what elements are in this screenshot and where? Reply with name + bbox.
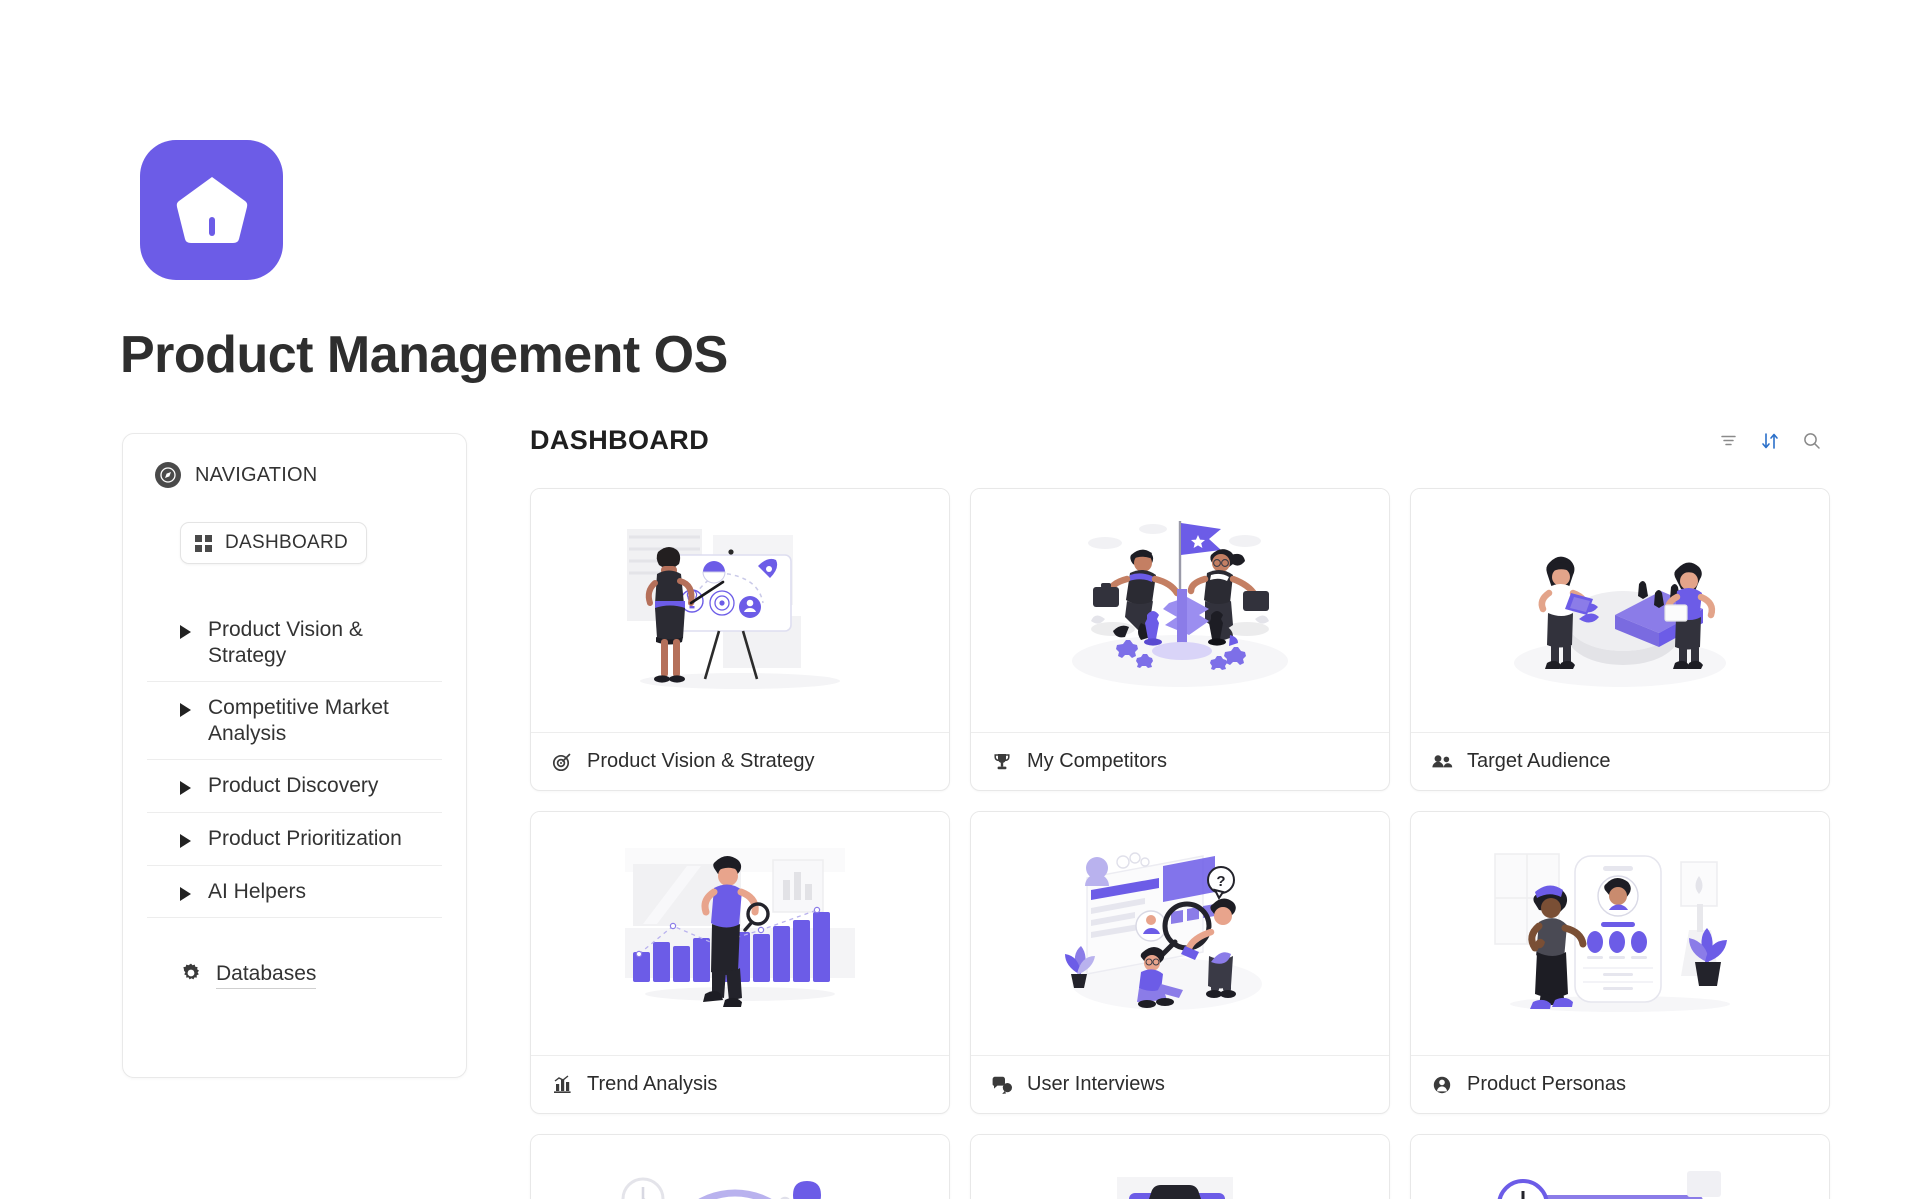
triangle-right-icon <box>180 887 191 901</box>
house-pentagon-logo-icon <box>169 167 255 253</box>
sidebar-item-label: Product Discovery <box>208 773 378 799</box>
search-icon[interactable] <box>1802 431 1822 451</box>
speech-bubbles-icon <box>991 1074 1013 1096</box>
sidebar: NAVIGATION DASHBOARD Product Vision & St… <box>122 433 467 1078</box>
svg-text:?: ? <box>1216 873 1225 890</box>
toolbar <box>1719 431 1822 451</box>
page-title: Product Management OS <box>120 325 728 385</box>
gear-icon <box>180 962 202 989</box>
card-grid: Product Vision & Strategy <box>530 488 1830 1199</box>
sidebar-item-label: AI Helpers <box>208 879 306 905</box>
sidebar-item-product-vision-strategy[interactable]: Product Vision & Strategy <box>147 604 442 682</box>
card-footer: Product Personas <box>1411 1055 1829 1113</box>
people-icon <box>1431 751 1453 773</box>
main-content: DASHBOARD <box>530 425 1830 1199</box>
card-illustration: ? <box>531 1135 949 1199</box>
triangle-right-icon <box>180 781 191 795</box>
triangle-right-icon <box>180 625 191 639</box>
sidebar-item-label: Product Prioritization <box>208 826 402 852</box>
card-product-vision-strategy[interactable]: Product Vision & Strategy <box>530 488 950 791</box>
sidebar-item-label: Competitive Market Analysis <box>208 695 408 746</box>
card-label: Product Personas <box>1467 1073 1626 1096</box>
card-label: Trend Analysis <box>587 1073 717 1096</box>
card-illustration: ? <box>971 812 1389 1055</box>
app-logo <box>140 140 283 280</box>
sidebar-databases-label: Databases <box>216 962 316 989</box>
triangle-right-icon <box>180 834 191 848</box>
person-badge-icon <box>1431 1074 1453 1096</box>
main-header: DASHBOARD <box>530 425 1830 456</box>
main-title: DASHBOARD <box>530 425 709 456</box>
card-footer: Product Vision & Strategy <box>531 732 949 790</box>
navigation-heading: NAVIGATION <box>155 462 442 488</box>
filter-icon[interactable] <box>1719 431 1738 450</box>
sidebar-dashboard-label: DASHBOARD <box>225 532 348 554</box>
card-illustration <box>971 1135 1389 1199</box>
card-footer: User Interviews <box>971 1055 1389 1113</box>
card-row3-checklist[interactable] <box>970 1134 1390 1199</box>
card-label: User Interviews <box>1027 1073 1165 1096</box>
sort-icon[interactable] <box>1760 431 1780 451</box>
target-icon <box>551 751 573 773</box>
card-user-interviews[interactable]: ? <box>970 811 1390 1114</box>
card-label: Target Audience <box>1467 750 1610 773</box>
bar-chart-icon <box>551 1074 573 1096</box>
card-footer: Trend Analysis <box>531 1055 949 1113</box>
sidebar-item-competitive-market-analysis[interactable]: Competitive Market Analysis <box>147 682 442 760</box>
card-footer: Target Audience <box>1411 732 1829 790</box>
sidebar-item-label: Product Vision & Strategy <box>208 617 408 668</box>
card-footer: My Competitors <box>971 732 1389 790</box>
card-illustration <box>531 812 949 1055</box>
card-illustration <box>1411 489 1829 732</box>
card-illustration <box>1411 812 1829 1055</box>
card-illustration <box>531 489 949 732</box>
card-illustration <box>1411 1135 1829 1199</box>
triangle-right-icon <box>180 703 191 717</box>
card-illustration <box>971 489 1389 732</box>
card-row3-kanban[interactable] <box>1410 1134 1830 1199</box>
card-row3-maze[interactable]: ? <box>530 1134 950 1199</box>
card-product-personas[interactable]: Product Personas <box>1410 811 1830 1114</box>
sidebar-item-ai-helpers[interactable]: AI Helpers <box>147 866 442 919</box>
sidebar-item-product-prioritization[interactable]: Product Prioritization <box>147 813 442 866</box>
card-target-audience[interactable]: Target Audience <box>1410 488 1830 791</box>
sidebar-item-product-discovery[interactable]: Product Discovery <box>147 760 442 813</box>
navigation-heading-label: NAVIGATION <box>195 464 317 487</box>
card-trend-analysis[interactable]: Trend Analysis <box>530 811 950 1114</box>
card-label: My Competitors <box>1027 750 1167 773</box>
trophy-icon <box>991 751 1013 773</box>
grid-icon <box>195 535 212 552</box>
card-label: Product Vision & Strategy <box>587 750 815 773</box>
compass-icon <box>155 462 181 488</box>
sidebar-nav-list: Product Vision & Strategy Competitive Ma… <box>147 604 442 918</box>
sidebar-dashboard-button[interactable]: DASHBOARD <box>180 522 367 564</box>
card-my-competitors[interactable]: My Competitors <box>970 488 1390 791</box>
sidebar-item-databases[interactable]: Databases <box>180 962 316 989</box>
dashboard-page: Product Management OS NAVIGATION DASHBOA… <box>0 0 1920 1199</box>
